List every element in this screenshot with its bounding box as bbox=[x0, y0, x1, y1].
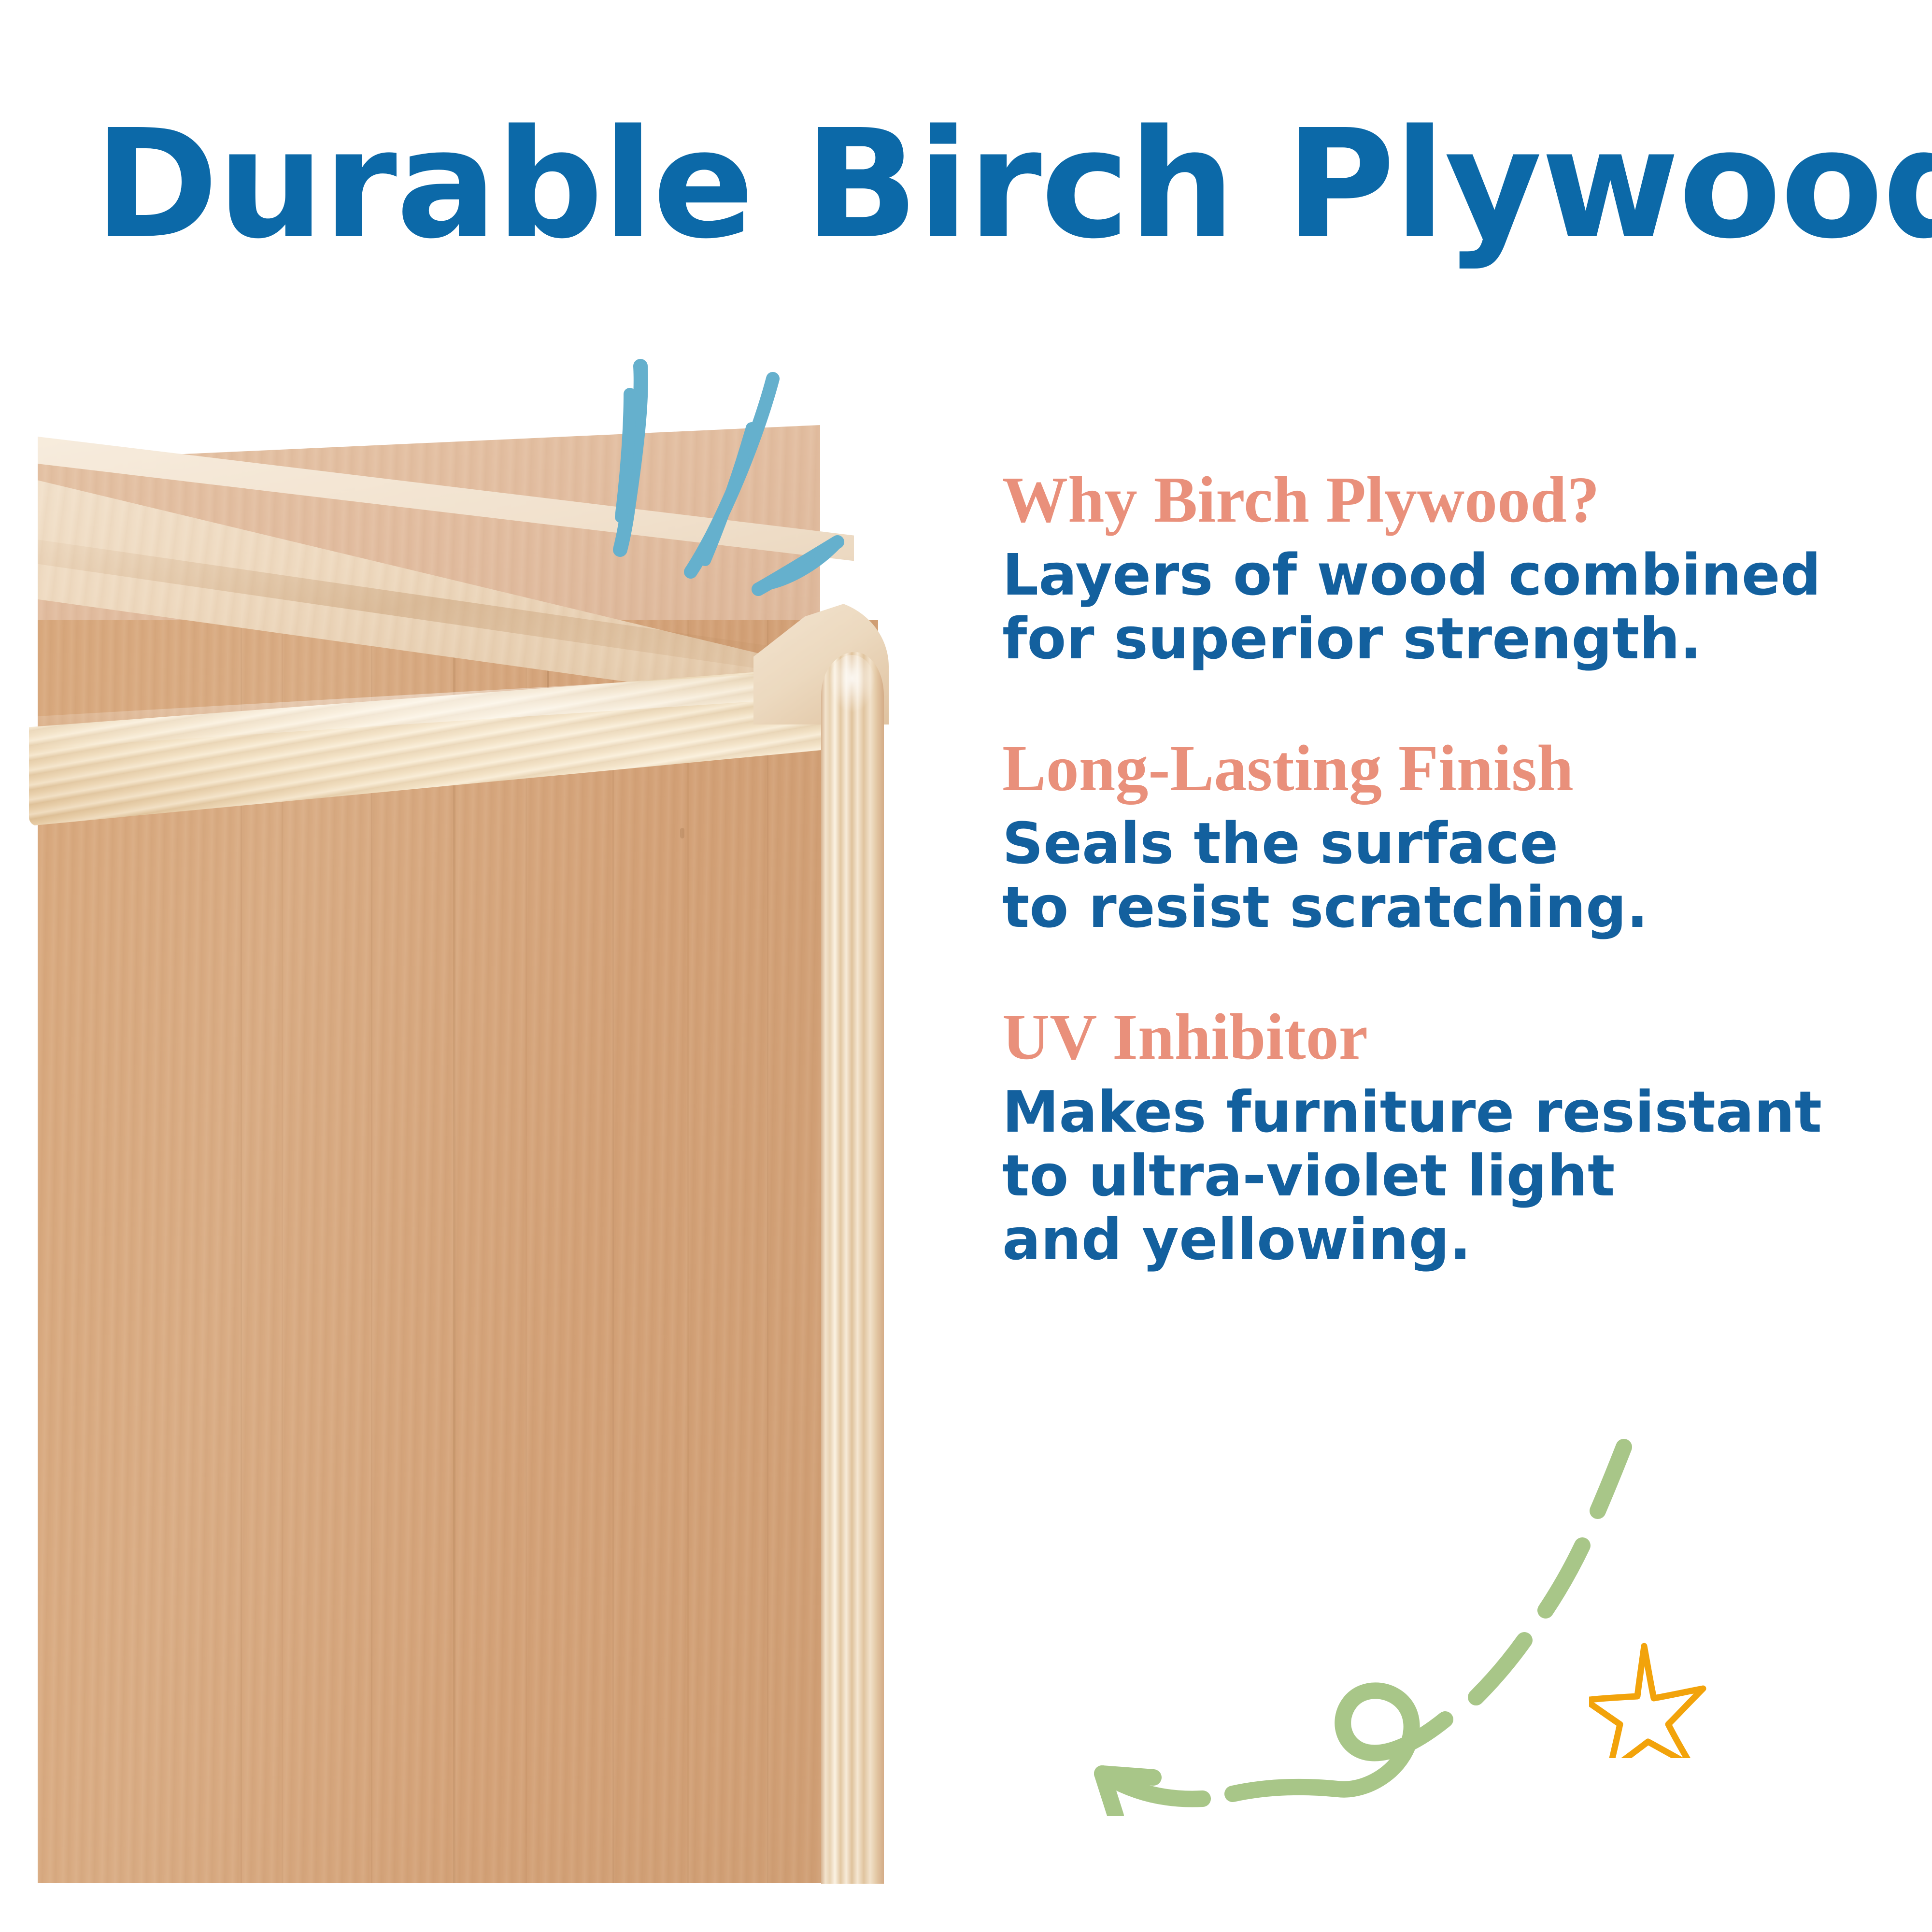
page-title: Durable Birch Plywood bbox=[94, 105, 1862, 265]
feature-body-line: Seals the surface bbox=[1002, 811, 1881, 875]
feature-block-why-birch-plywood: Why Birch Plywood? Layers of wood combin… bbox=[1002, 464, 1881, 670]
plywood-layered-edge bbox=[821, 652, 884, 1884]
feature-heading: UV Inhibitor bbox=[1002, 1001, 1881, 1073]
feature-block-uv-inhibitor: UV Inhibitor Makes furniture resistant t… bbox=[1002, 1001, 1881, 1271]
feature-body-line: Layers of wood combined bbox=[1002, 543, 1881, 607]
feature-heading: Long-Lasting Finish bbox=[1002, 732, 1881, 805]
marketing-infographic: Durable Birch Plywood bbox=[0, 0, 1932, 1932]
feature-body-line: for superior strength. bbox=[1002, 607, 1881, 670]
birch-plywood-cabinet-photo bbox=[0, 425, 918, 1884]
feature-list: Why Birch Plywood? Layers of wood combin… bbox=[1002, 464, 1881, 1271]
feature-body-line: Makes furniture resistant bbox=[1002, 1080, 1881, 1144]
feature-body-line: to ultra-violet light bbox=[1002, 1144, 1881, 1207]
feature-block-long-lasting-finish: Long-Lasting Finish Seals the surface to… bbox=[1002, 732, 1881, 939]
curly-arrow-left-icon bbox=[1029, 1430, 1662, 1816]
plywood-edge-gloss bbox=[829, 655, 875, 713]
feature-body-line: and yellowing. bbox=[1002, 1207, 1881, 1271]
star-outline-icon bbox=[1589, 1628, 1719, 1758]
feature-body-line: to resist scratching. bbox=[1002, 875, 1881, 939]
feature-heading: Why Birch Plywood? bbox=[1002, 464, 1881, 536]
